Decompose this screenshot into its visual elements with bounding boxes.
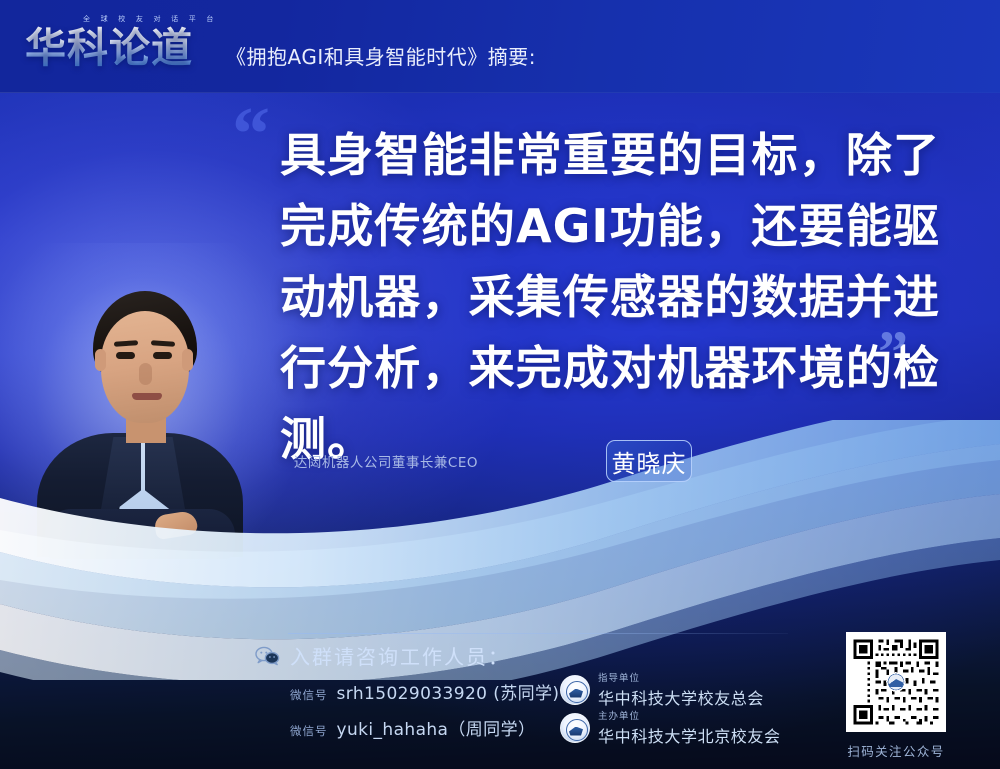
speaker-name: 黄晓庆 (612, 444, 687, 479)
portrait-ear-left (95, 349, 106, 371)
portrait-ear-right (182, 349, 193, 371)
wechat-icon (255, 646, 281, 666)
organization-row: 指导单位 华中科技大学校友总会 (560, 670, 764, 709)
quote-close-mark: ” (878, 322, 908, 382)
contact-label: 微信号 (290, 723, 328, 739)
qr-caption: 扫码关注公众号 (837, 741, 955, 760)
portrait-eye-left (116, 352, 135, 359)
speaker-role: 达闼机器人公司董事长兼CEO (294, 451, 478, 471)
qr-block[interactable]: 扫码关注公众号 (837, 632, 955, 760)
qr-code-icon[interactable] (846, 632, 946, 732)
page-title: 《拥抱AGI和具身智能时代》摘要: (226, 41, 536, 70)
portrait-arms (45, 509, 235, 559)
university-seal-icon (560, 713, 590, 743)
quote-text: 具身智能非常重要的目标，除了完成传统的AGI功能，还要能驱动机器，采集传感器的数… (280, 120, 940, 475)
poster-canvas: 全 球 校 友 对 话 平 台 华科论道 《拥抱AGI和具身智能时代》摘要: (0, 0, 1000, 769)
organization-name: 华中科技大学北京校友会 (598, 723, 781, 747)
contact-row[interactable]: 微信号 srh15029033920 (苏同学) (290, 679, 559, 704)
university-seal-icon (560, 675, 590, 705)
brand-logo[interactable]: 全 球 校 友 对 话 平 台 华科论道 (25, 14, 215, 76)
contact-value: yuki_hahaha（周同学） (337, 715, 536, 740)
footer-divider (288, 633, 788, 634)
contact-value: srh15029033920 (苏同学) (337, 679, 560, 704)
portrait-nose (139, 363, 152, 385)
speaker-portrait (27, 285, 253, 553)
logo-wordmark: 华科论道 (25, 23, 193, 73)
contact-label: 微信号 (290, 687, 328, 703)
contact-row[interactable]: 微信号 yuki_hahaha（周同学） (290, 715, 535, 740)
quote-open-mark: “ (232, 96, 268, 172)
organization-kind: 指导单位 (598, 670, 764, 684)
organization-row: 主办单位 华中科技大学北京校友会 (560, 708, 781, 747)
speaker-name-badge: 黄晓庆 (606, 440, 692, 482)
header-bar: 全 球 校 友 对 话 平 台 华科论道 《拥抱AGI和具身智能时代》摘要: (0, 0, 1000, 93)
organization-kind: 主办单位 (598, 708, 781, 722)
join-instruction-title: 入群请咨询工作人员： (290, 641, 510, 670)
portrait-mouth (132, 393, 162, 400)
portrait-eye-right (153, 352, 172, 359)
organization-name: 华中科技大学校友总会 (598, 685, 764, 709)
